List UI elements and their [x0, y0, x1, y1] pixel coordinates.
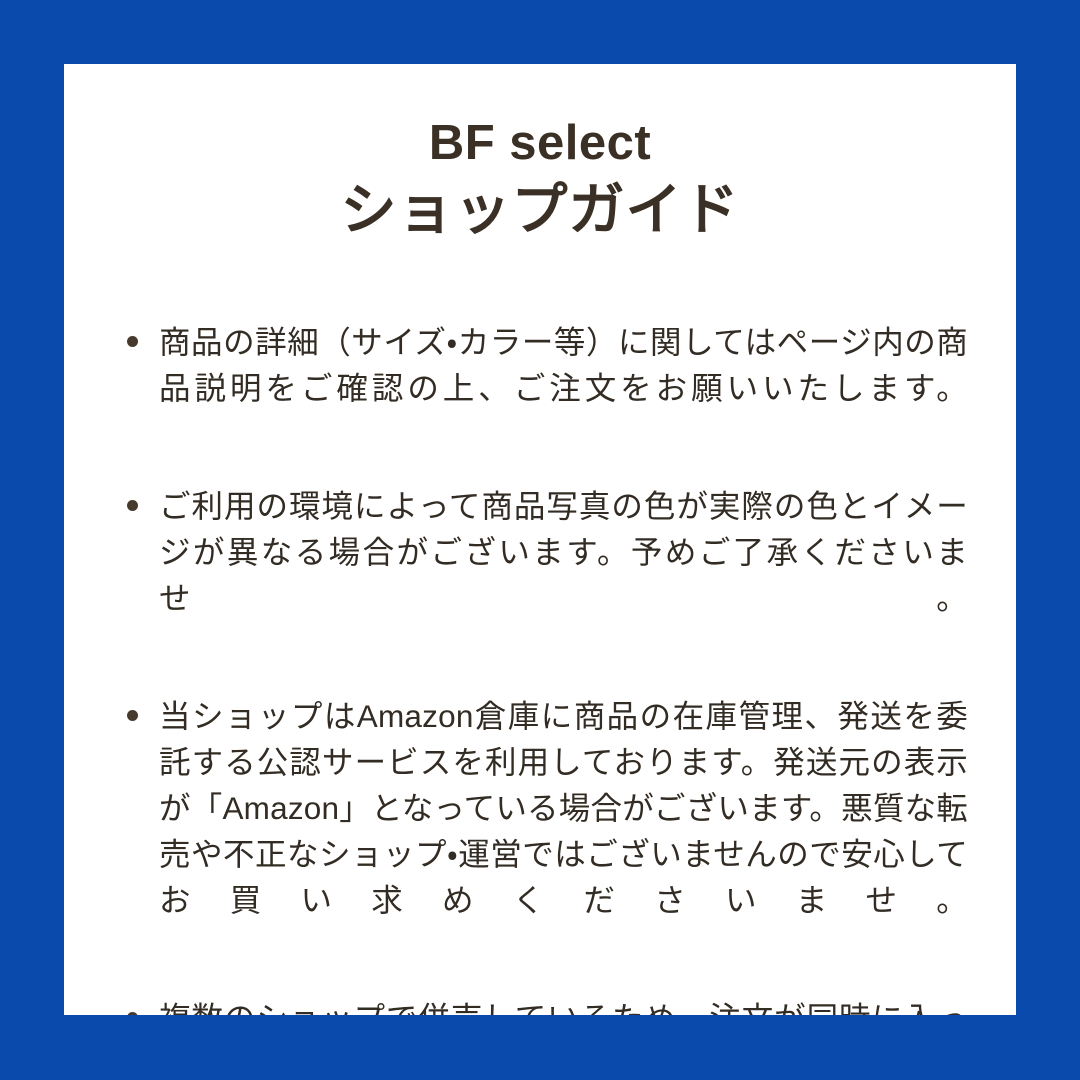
blue-frame-border: BF select ショップガイド 商品の詳細（サイズ・カラー等）に関してはペー…	[0, 0, 1080, 1080]
note-text: 複数のショップで併売しているため、注文が同時に入ってしまった場合、ご注文時に在庫…	[159, 995, 968, 1015]
bullet-dot-icon	[127, 710, 138, 721]
list-item: 商品の詳細（サイズ・カラー等）に関してはページ内の商品説明をご確認の上、ご注文を…	[64, 319, 1016, 457]
list-item: 当ショップはAmazon倉庫に商品の在庫管理、発送を委託する公認サービスを利用し…	[64, 693, 1016, 969]
title-brand: BF select	[64, 116, 1016, 171]
page-title: BF select ショップガイド	[64, 64, 1016, 243]
bullet-dot-icon	[127, 336, 138, 347]
shop-guide-notes-list: 商品の詳細（サイズ・カラー等）に関してはページ内の商品説明をご確認の上、ご注文を…	[64, 319, 1016, 1015]
note-text: 当ショップはAmazon倉庫に商品の在庫管理、発送を委託する公認サービスを利用し…	[159, 693, 968, 969]
bullet-dot-icon	[127, 500, 138, 511]
list-item: ご利用の環境によって商品写真の色が実際の色とイメージが異なる場合がございます。予…	[64, 483, 1016, 667]
note-text: ご利用の環境によって商品写真の色が実際の色とイメージが異なる場合がございます。予…	[159, 483, 968, 667]
title-subtitle: ショップガイド	[64, 177, 1016, 243]
list-item: 複数のショップで併売しているため、注文が同時に入ってしまった場合、ご注文時に在庫…	[64, 995, 1016, 1015]
note-text: 商品の詳細（サイズ・カラー等）に関してはページ内の商品説明をご確認の上、ご注文を…	[159, 319, 968, 457]
bullet-dot-icon	[127, 1012, 138, 1015]
guide-card: BF select ショップガイド 商品の詳細（サイズ・カラー等）に関してはペー…	[64, 64, 1016, 1015]
